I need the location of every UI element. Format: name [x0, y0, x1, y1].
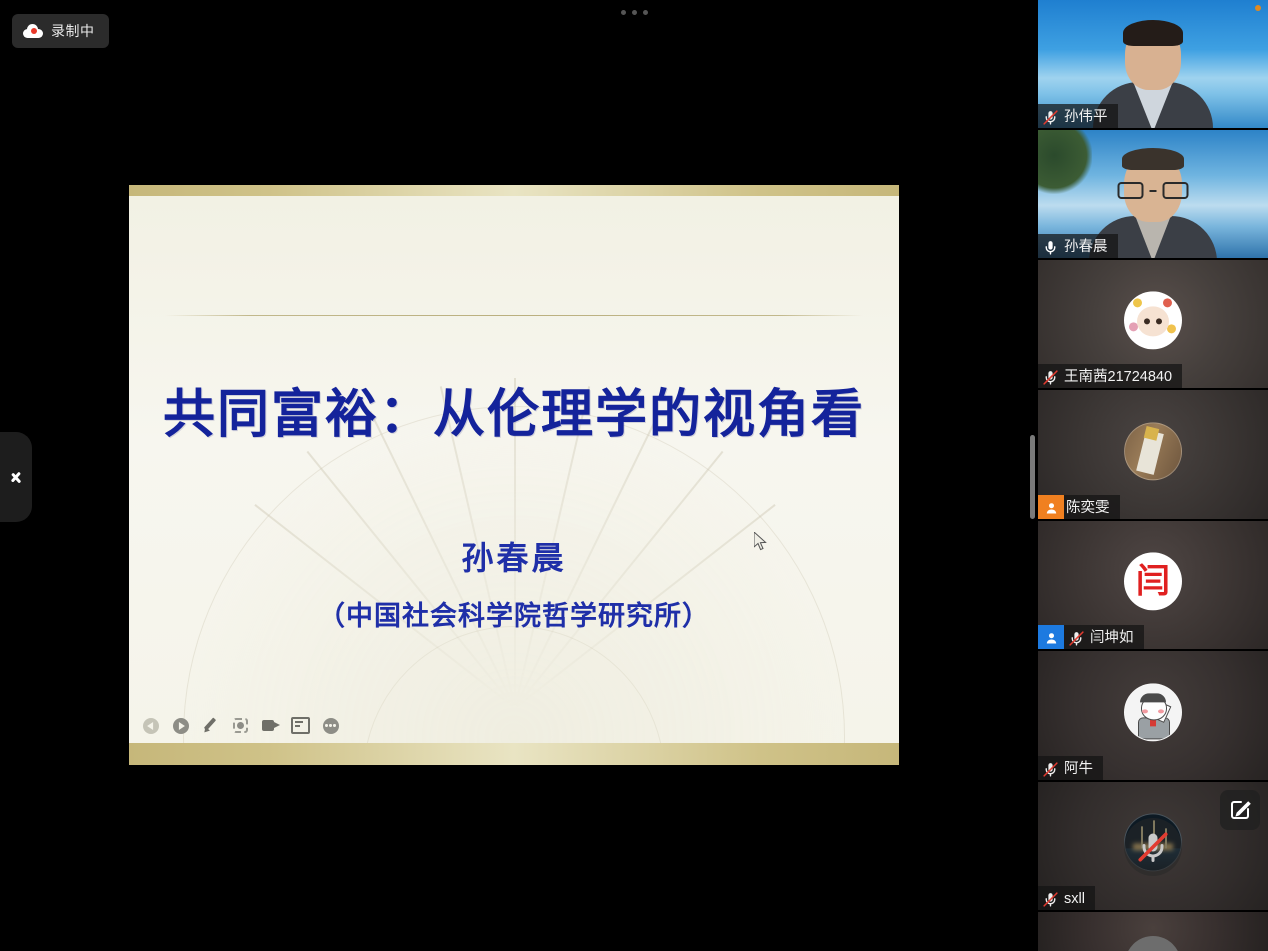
- role-badge-icon: [1038, 625, 1064, 651]
- slide-background: 共同富裕：从伦理学的视角看 孙春晨 （中国社会科学院哲学研究所）: [129, 196, 899, 743]
- participant-name: 阿牛: [1062, 762, 1093, 777]
- participant-nametag: 孙春晨: [1038, 234, 1118, 260]
- previous-slide-button[interactable]: [141, 716, 160, 735]
- spotlight-icon: [232, 717, 249, 734]
- slide-title: 共同富裕：从伦理学的视角看: [129, 372, 899, 447]
- role-badge-icon: [1038, 495, 1064, 521]
- presentation-toolbar: [141, 716, 340, 735]
- camera-button[interactable]: [261, 716, 280, 735]
- participant-nametag: 闫坤如: [1038, 625, 1144, 651]
- notes-icon: [291, 717, 310, 734]
- avatar: [1124, 422, 1182, 480]
- mic-muted-overlay-icon: [1124, 818, 1182, 876]
- next-slide-button[interactable]: [171, 716, 190, 735]
- mic-muted-icon: [1038, 756, 1062, 782]
- mic-muted-icon: [1038, 886, 1062, 912]
- pencil-icon: [202, 717, 219, 734]
- participant-rail[interactable]: 孙伟平: [1038, 0, 1268, 951]
- avatar: 闫: [1124, 552, 1182, 610]
- participant-nametag: 陈奕雯: [1038, 495, 1120, 521]
- shared-slide[interactable]: 共同富裕：从伦理学的视角看 孙春晨 （中国社会科学院哲学研究所）: [129, 185, 899, 765]
- meeting-screen: 录制中 共同富裕：从伦理学的视角看: [0, 0, 1268, 951]
- avatar: [1124, 291, 1182, 349]
- mic-muted-icon: [1064, 625, 1088, 651]
- participant-name: 闫坤如: [1088, 631, 1134, 646]
- status-dot-icon: [1255, 5, 1261, 11]
- ellipsis-icon: [323, 718, 339, 734]
- annotate-icon[interactable]: [1220, 790, 1260, 830]
- recording-badge[interactable]: 录制中: [12, 14, 109, 48]
- slide-bottom-band: [129, 743, 899, 765]
- annotate-pen-button[interactable]: [201, 716, 220, 735]
- overflow-dots-icon: [600, 10, 668, 15]
- mouse-cursor: [754, 532, 767, 551]
- slide-top-band: [129, 185, 899, 196]
- avatar: [1124, 683, 1182, 741]
- participant-tile[interactable]: sxll: [1038, 782, 1268, 912]
- slide-affiliation: （中国社会科学院哲学研究所）: [129, 594, 899, 633]
- recording-label: 录制中: [51, 21, 95, 41]
- participant-rail-scrollbar[interactable]: [1030, 435, 1035, 519]
- participant-tile[interactable]: 王南茜21724840: [1038, 260, 1268, 390]
- participant-nametag: 王南茜21724840: [1038, 364, 1182, 390]
- participant-nametag: 阿牛: [1038, 756, 1103, 782]
- participant-name: 陈奕雯: [1064, 501, 1110, 516]
- laser-pointer-button[interactable]: [231, 716, 250, 735]
- slide-author: 孙春晨: [129, 533, 899, 579]
- participant-name: 孙春晨: [1062, 240, 1108, 255]
- mic-muted-icon: [1038, 364, 1062, 390]
- mic-active-icon: [1038, 234, 1062, 260]
- participant-tile[interactable]: [1038, 912, 1268, 951]
- presenter-notes-button[interactable]: [291, 716, 310, 735]
- participant-name: 孙伟平: [1062, 110, 1108, 125]
- top-toolbar-handle[interactable]: [600, 2, 668, 22]
- participant-nametag: sxll: [1038, 886, 1095, 912]
- left-panel-expand-button[interactable]: [0, 432, 32, 522]
- participant-tile[interactable]: 阿牛: [1038, 651, 1268, 782]
- participant-name: sxll: [1062, 892, 1085, 907]
- participant-tile[interactable]: 孙春晨: [1038, 130, 1268, 260]
- cloud-record-icon: [23, 24, 43, 38]
- slide-divider: [165, 315, 863, 316]
- participant-tile[interactable]: 孙伟平: [1038, 0, 1268, 130]
- participant-tile[interactable]: 闫 闫坤如: [1038, 521, 1268, 651]
- chevron-right-icon: [11, 468, 22, 487]
- participant-name: 王南茜21724840: [1062, 370, 1172, 385]
- participant-nametag: 孙伟平: [1038, 104, 1118, 130]
- participant-tile[interactable]: 陈奕雯: [1038, 390, 1268, 521]
- video-camera-icon: [262, 720, 280, 732]
- mic-muted-icon: [1038, 104, 1062, 130]
- more-options-button[interactable]: [321, 716, 340, 735]
